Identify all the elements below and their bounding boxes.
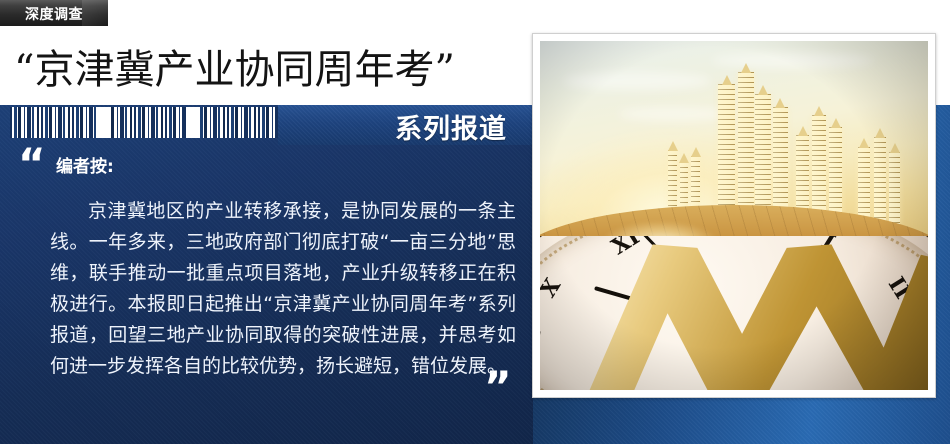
barcode-bars (10, 107, 278, 138)
series-report-label: 系列报道 (395, 107, 507, 146)
bottom-blue-strip (0, 404, 950, 444)
barcode-icon (10, 107, 278, 138)
photo-clock-area: XII XI X IX I II III (540, 236, 928, 390)
series-report-band: 系列报道 (278, 105, 533, 145)
page-root: 深度调查 “京津冀产业协同周年考” 系列报道 “ ” 编者按: 京津冀地区的产业… (0, 0, 950, 444)
cloud-shape (563, 72, 710, 90)
cloud-shape (711, 53, 874, 69)
clock-numeral: XII (715, 236, 753, 239)
category-tab-label: 深度调查 (0, 4, 108, 24)
page-title: “京津冀产业协同周年考” (14, 46, 455, 94)
cloud-shape (618, 107, 734, 121)
category-tab[interactable]: 深度调查 (0, 0, 108, 26)
barcode-gap (98, 107, 110, 138)
barcode-gap (186, 107, 200, 138)
editor-note-label: 编者按: (56, 152, 114, 177)
editor-note-body: 京津冀地区的产业转移承接，是协同发展的一条主线。一年多来，三地政府部门彻底打破“… (50, 196, 516, 382)
hero-photo-frame: XII XI X IX I II III (532, 33, 936, 398)
open-quote-icon: “ (18, 143, 46, 185)
hero-photo: XII XI X IX I II III (540, 41, 928, 390)
